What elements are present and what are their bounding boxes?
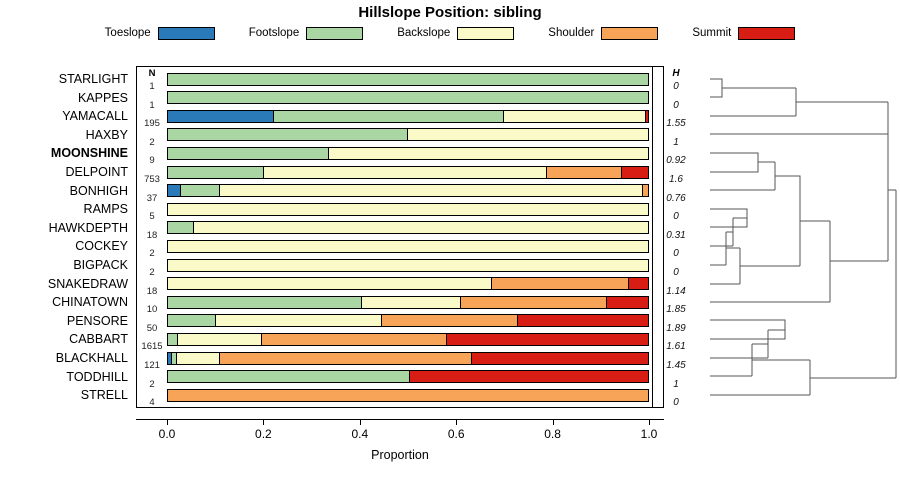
bar-segment-footslope (168, 92, 648, 103)
category-label: TODDHILL (66, 371, 128, 383)
n-column: 11195297533751822181050161512124 (137, 66, 167, 408)
bar-segment-footslope (168, 334, 178, 345)
category-label: CHINATOWN (52, 296, 128, 308)
chart-title: Hillslope Position: sibling (0, 4, 900, 21)
bar-segment-shoulder (168, 390, 648, 401)
bar-segment-backslope (168, 260, 648, 271)
h-value: 1 (655, 138, 697, 148)
bar-segment-footslope (168, 74, 648, 85)
bar-segment-shoulder (643, 185, 648, 196)
h-value: 1.89 (655, 324, 697, 334)
bar-segment-backslope (329, 148, 648, 159)
h-column-separator (652, 66, 653, 408)
x-axis-tick (360, 419, 361, 425)
stacked-bar (167, 240, 649, 253)
n-value: 121 (137, 361, 167, 370)
category-label: BIGPACK (73, 259, 128, 271)
bar-segment-shoulder (492, 278, 629, 289)
x-axis-tick-label: 0.4 (340, 427, 380, 441)
h-value: 1.61 (655, 342, 697, 352)
category-label: MOONSHINE (51, 147, 128, 159)
x-axis-tick (456, 419, 457, 425)
category-label: HAXBY (86, 129, 128, 141)
n-value: 1615 (137, 342, 167, 351)
x-axis-tick-label: 0.6 (436, 427, 476, 441)
dendrogram (700, 60, 900, 420)
n-value: 2 (137, 268, 167, 277)
h-value: 0.92 (655, 156, 697, 166)
legend-label: Summit (692, 28, 731, 39)
category-label: BONHIGH (70, 185, 128, 197)
category-label: RAMPS (84, 203, 128, 215)
h-value: 1 (655, 380, 697, 390)
stacked-bar (167, 91, 649, 104)
bar-segment-footslope (168, 315, 216, 326)
bar-segment-summit (622, 167, 648, 178)
h-value: 0 (655, 101, 697, 111)
bar-segment-shoulder (382, 315, 519, 326)
legend-swatch (738, 27, 795, 40)
bar-segment-footslope (168, 148, 329, 159)
bar-segment-summit (472, 353, 648, 364)
legend-swatch (158, 27, 215, 40)
legend-label: Toeslope (105, 28, 151, 39)
stacked-bar (167, 389, 649, 402)
bar-segment-summit (518, 315, 648, 326)
bar-segment-footslope (181, 185, 220, 196)
category-label: SNAKEDRAW (48, 278, 128, 290)
n-value: 18 (137, 287, 167, 296)
n-value: 50 (137, 324, 167, 333)
x-axis-tick (553, 419, 554, 425)
bar-segment-summit (447, 334, 648, 345)
stacked-bar (167, 221, 649, 234)
bar-segment-shoulder (262, 334, 447, 345)
bar-segment-backslope (264, 167, 547, 178)
n-value: 195 (137, 119, 167, 128)
legend-label: Footslope (249, 28, 300, 39)
x-axis-tick (263, 419, 264, 425)
bar-segment-summit (410, 371, 648, 382)
h-value: 0 (655, 82, 697, 92)
n-value: 37 (137, 194, 167, 203)
legend-swatch (457, 27, 514, 40)
bar-segment-footslope (168, 167, 264, 178)
bar-segment-backslope (168, 241, 648, 252)
h-value: 1.55 (655, 119, 697, 129)
bar-segment-toeslope (168, 111, 274, 122)
stacked-bar (167, 166, 649, 179)
dendrogram-svg (700, 60, 900, 420)
bar-segment-backslope (220, 185, 643, 196)
h-value: 1.6 (655, 175, 697, 185)
n-value: 5 (137, 212, 167, 221)
stacked-bar (167, 147, 649, 160)
legend-item: Summit (692, 27, 795, 40)
h-column: 001.5510.921.60.7600.31001.141.851.891.6… (655, 66, 697, 408)
category-label: STARLIGHT (59, 73, 128, 85)
bar-segment-shoulder (547, 167, 621, 178)
stacked-bar (167, 73, 649, 86)
x-axis-line (136, 419, 664, 420)
legend-item: Footslope (249, 27, 364, 40)
legend-label: Backslope (397, 28, 450, 39)
stacked-bar (167, 296, 649, 309)
bar-segment-footslope (168, 222, 194, 233)
n-value: 10 (137, 305, 167, 314)
bar-segment-shoulder (461, 297, 607, 308)
x-axis-label: Proportion (136, 448, 664, 462)
category-label: CABBART (69, 333, 128, 345)
h-value: 1.14 (655, 287, 697, 297)
h-value: 1.45 (655, 361, 697, 371)
x-axis-tick-label: 0.2 (243, 427, 283, 441)
h-value: 0.31 (655, 231, 697, 241)
x-axis-tick (649, 419, 650, 425)
x-axis-tick-label: 0.0 (147, 427, 187, 441)
bar-segment-backslope (194, 222, 648, 233)
bar-segment-footslope (168, 297, 362, 308)
h-value: 0 (655, 212, 697, 222)
category-axis-labels: STARLIGHTKAPPESYAMACALLHAXBYMOONSHINEDEL… (0, 66, 132, 408)
bar-segment-footslope (168, 371, 410, 382)
n-value: 2 (137, 138, 167, 147)
stacked-bar (167, 314, 649, 327)
category-label: PENSORE (67, 315, 128, 327)
bar-segment-backslope (408, 129, 648, 140)
legend-item: Toeslope (105, 27, 215, 40)
stacked-bar (167, 110, 649, 123)
bar-segment-footslope (274, 111, 504, 122)
x-axis-tick (167, 419, 168, 425)
n-value: 753 (137, 175, 167, 184)
stacked-bar (167, 128, 649, 141)
h-value: 0 (655, 268, 697, 278)
bar-segment-summit (607, 297, 648, 308)
category-label: BLACKHALL (56, 352, 128, 364)
x-axis-tick-label: 1.0 (629, 427, 669, 441)
bar-segment-backslope (168, 204, 648, 215)
n-value: 1 (137, 101, 167, 110)
bar-segment-toeslope (168, 185, 181, 196)
bar-segment-summit (646, 111, 648, 122)
stacked-bar (167, 184, 649, 197)
category-label: COCKEY (75, 240, 128, 252)
legend: ToeslopeFootslopeBackslopeShoulderSummit (0, 24, 900, 42)
h-value: 0 (655, 249, 697, 259)
bar-segment-footslope (168, 129, 408, 140)
bar-segment-summit (629, 278, 648, 289)
x-axis-tick-label: 0.8 (533, 427, 573, 441)
bar-segment-backslope (504, 111, 646, 122)
category-label: HAWKDEPTH (49, 222, 128, 234)
h-value: 1.85 (655, 305, 697, 315)
stacked-bar (167, 203, 649, 216)
stacked-bar (167, 277, 649, 290)
chart-root: Hillslope Position: sibling ToeslopeFoot… (0, 0, 900, 480)
bar-segment-backslope (178, 334, 262, 345)
n-value: 2 (137, 380, 167, 389)
legend-item: Backslope (397, 27, 514, 40)
legend-label: Shoulder (548, 28, 594, 39)
stacked-bar (167, 352, 649, 365)
bar-segment-shoulder (220, 353, 472, 364)
n-value: 2 (137, 249, 167, 258)
bar-segment-backslope (177, 353, 220, 364)
h-value: 0 (655, 398, 697, 408)
legend-swatch (306, 27, 363, 40)
n-value: 4 (137, 398, 167, 407)
n-value: 1 (137, 82, 167, 91)
bar-segment-backslope (362, 297, 460, 308)
h-value: 0.76 (655, 194, 697, 204)
legend-swatch (601, 27, 658, 40)
stacked-bar (167, 259, 649, 272)
stacked-bar (167, 370, 649, 383)
n-value: 9 (137, 156, 167, 165)
category-label: YAMACALL (62, 110, 128, 122)
bar-segment-backslope (168, 278, 492, 289)
stacked-bar (167, 333, 649, 346)
n-value: 18 (137, 231, 167, 240)
category-label: DELPOINT (65, 166, 128, 178)
category-label: KAPPES (78, 92, 128, 104)
bar-segment-backslope (216, 315, 382, 326)
legend-item: Shoulder (548, 27, 658, 40)
category-label: STRELL (81, 389, 128, 401)
